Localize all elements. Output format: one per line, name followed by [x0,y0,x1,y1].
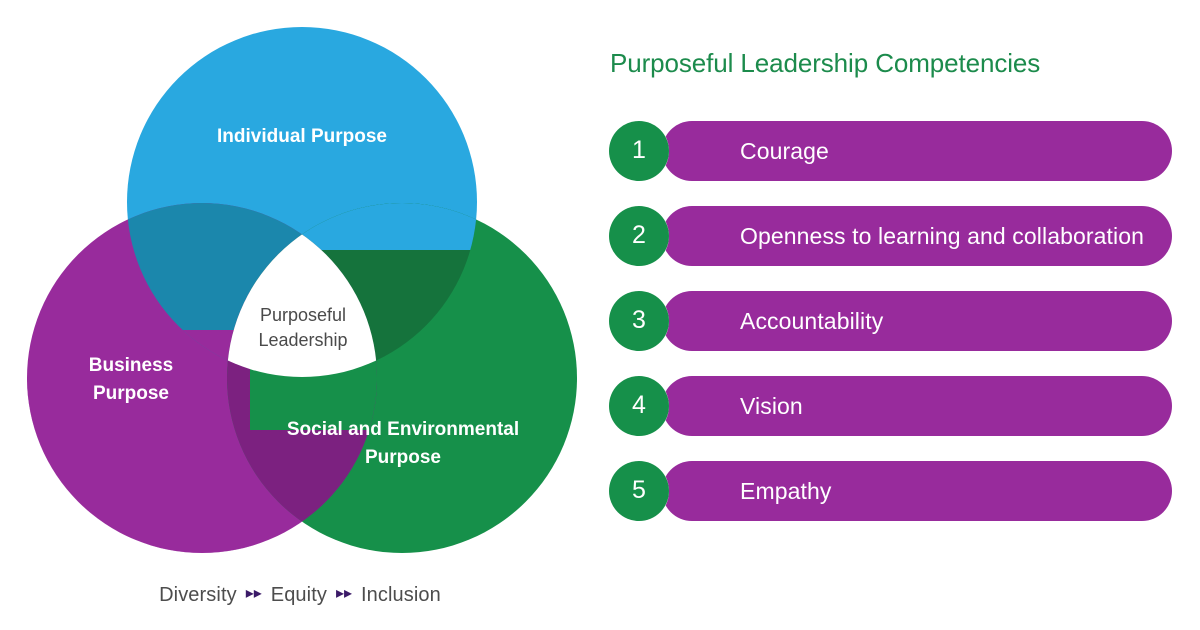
competency-item-3[interactable]: Accountability 3 [600,288,1200,354]
competency-bar[interactable]: Vision [662,376,1172,436]
venn-label-social-purpose-line1: Social and Environmental [287,419,519,440]
venn-label-business-purpose-line2: Purpose [93,383,169,404]
dei-word-equity: Equity [271,584,327,607]
competency-label: Vision [740,393,803,420]
competency-bar[interactable]: Empathy [662,461,1172,521]
competency-label: Accountability [740,308,883,335]
competency-badge: 5 [609,461,669,521]
competency-number: 5 [632,478,646,503]
infographic-page: Individual Purpose Business Purpose Soci… [0,0,1200,630]
dei-word-diversity: Diversity [159,584,237,607]
competency-number: 2 [632,223,646,248]
competency-list: Courage 1 Openness to learning and colla… [600,118,1200,543]
competency-item-2[interactable]: Openness to learning and collaboration 2 [600,203,1200,269]
diversity-equity-inclusion-caption: Diversity ▸▸ Equity ▸▸ Inclusion [0,570,600,620]
competency-badge-ring: 2 [603,203,669,269]
venn-label-individual-purpose: Individual Purpose [217,126,387,147]
competency-badge-ring: 4 [603,373,669,439]
competency-number: 1 [632,138,646,163]
competency-badge: 1 [609,121,669,181]
competency-badge-ring: 3 [603,288,669,354]
dei-word-inclusion: Inclusion [361,584,441,607]
competency-badge: 3 [609,291,669,351]
competency-item-4[interactable]: Vision 4 [600,373,1200,439]
competency-bar[interactable]: Openness to learning and collaboration [662,206,1172,266]
competency-badge: 2 [609,206,669,266]
competency-bar[interactable]: Accountability [662,291,1172,351]
venn-diagram-panel: Individual Purpose Business Purpose Soci… [0,0,600,630]
venn-label-center-line2: Leadership [258,330,347,350]
venn-label-business-purpose-line1: Business [89,355,173,376]
competency-label: Courage [740,138,829,165]
competency-badge: 4 [609,376,669,436]
competency-label: Openness to learning and collaboration [740,223,1144,250]
competency-number: 3 [632,308,646,333]
competency-number: 4 [632,393,646,418]
double-triangle-forward-icon: ▸▸ [246,586,262,602]
double-triangle-forward-icon: ▸▸ [336,586,352,602]
competency-badge-ring: 1 [603,118,669,184]
competency-bar[interactable]: Courage [662,121,1172,181]
competency-item-5[interactable]: Empathy 5 [600,458,1200,524]
competency-badge-ring: 5 [603,458,669,524]
competency-item-1[interactable]: Courage 1 [600,118,1200,184]
venn-diagram: Individual Purpose Business Purpose Soci… [0,0,600,570]
competencies-title: Purposeful Leadership Competencies [610,48,1040,79]
competency-label: Empathy [740,478,831,505]
competencies-panel: Purposeful Leadership Competencies Coura… [600,0,1200,630]
venn-label-center-line1: Purposeful [260,305,346,325]
venn-label-social-purpose-line2: Purpose [365,447,441,468]
